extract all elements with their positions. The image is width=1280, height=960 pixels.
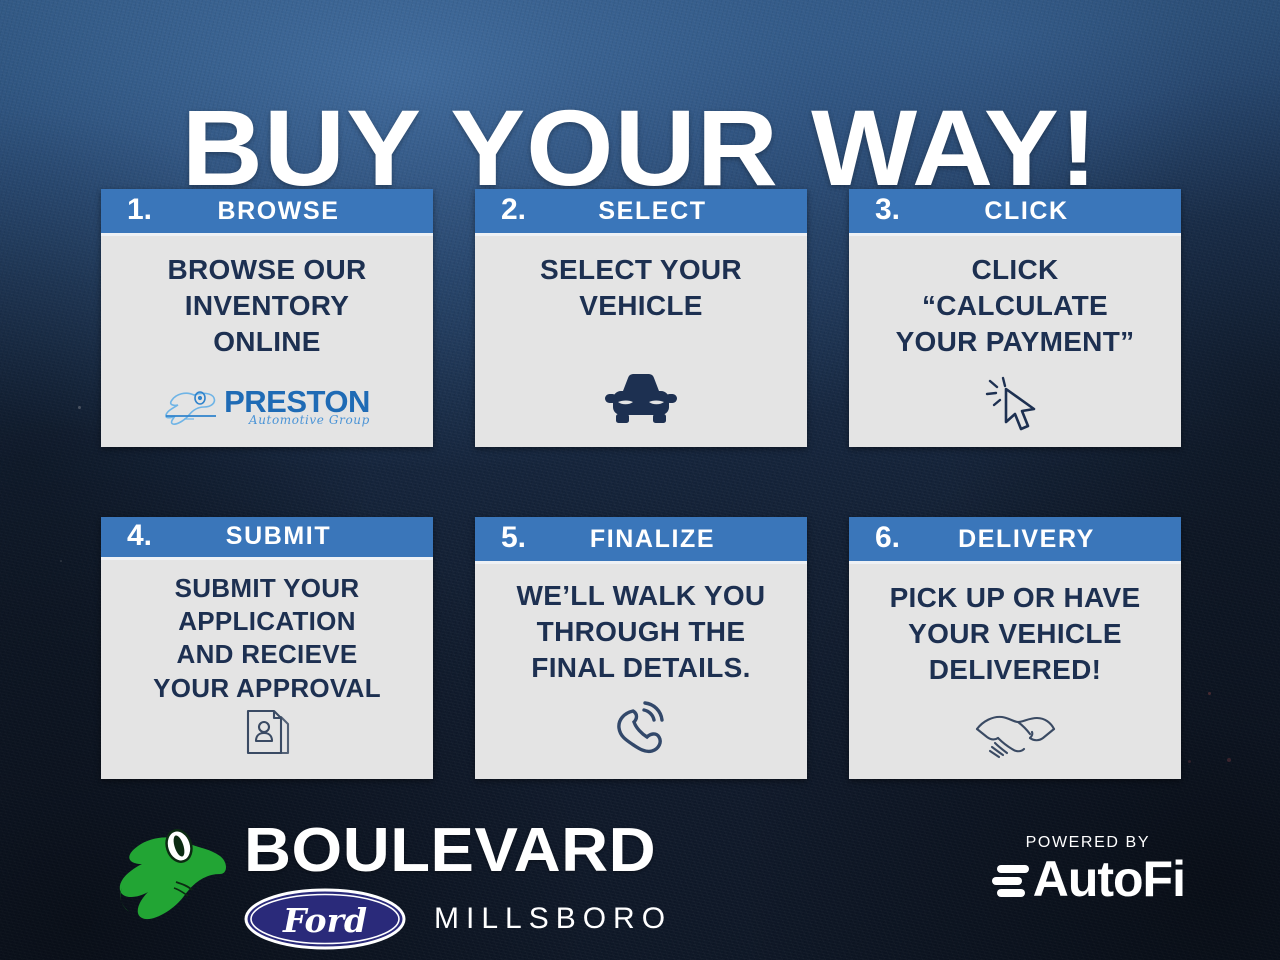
steps-grid: 1. BROWSE BROWSE OUR INVENTORY ONLINE <box>101 189 1186 779</box>
step-card-delivery[interactable]: 6. DELIVERY PICK UP OR HAVE YOUR VEHICLE… <box>849 517 1181 779</box>
phone-ringing-icon <box>487 701 795 771</box>
dealer-brand-lockup: BOULEVARD Ford MILLSBORO <box>116 820 672 950</box>
dealer-name: BOULEVARD <box>244 820 693 882</box>
autofi-lockup: POWERED BY AutoFi <box>991 834 1185 904</box>
step-card-body: WE’LL WALK YOU THROUGH THE FINAL DETAILS… <box>475 564 807 779</box>
dealer-location: MILLSBORO <box>434 902 672 936</box>
step-card-select[interactable]: 2. SELECT SELECT YOUR VEHICLE <box>475 189 807 447</box>
step-description: PICK UP OR HAVE YOUR VEHICLE DELIVERED! <box>890 580 1141 687</box>
boulevard-frog-logo-icon <box>116 828 228 932</box>
preston-wordmark: PRESTON <box>224 388 370 416</box>
dealer-text-block: BOULEVARD Ford MILLSBORO <box>244 820 672 950</box>
texture-speck <box>60 560 62 562</box>
ford-oval-logo-icon: Ford <box>244 888 406 950</box>
step-card-header: 1. BROWSE <box>101 189 433 236</box>
step-description: SELECT YOUR VEHICLE <box>540 252 742 324</box>
step-title: SUBMIT <box>146 524 421 549</box>
step-card-body: SELECT YOUR VEHICLE <box>475 236 807 447</box>
step-card-header: 6. DELIVERY <box>849 517 1181 564</box>
step-card-header: 3. CLICK <box>849 189 1181 236</box>
step-description: BROWSE OUR INVENTORY ONLINE <box>168 252 367 359</box>
step-card-header: 5. FINALIZE <box>475 517 807 564</box>
page-title: BUY YOUR WAY! <box>0 94 1280 202</box>
handshake-icon <box>861 707 1169 771</box>
application-documents-icon <box>113 705 421 771</box>
step-card-browse[interactable]: 1. BROWSE BROWSE OUR INVENTORY ONLINE <box>101 189 433 447</box>
step-title: BROWSE <box>146 199 421 224</box>
dealer-sub-row: Ford MILLSBORO <box>244 888 672 950</box>
step-card-body: BROWSE OUR INVENTORY ONLINE PRESTON Au <box>101 236 433 447</box>
step-card-body: CLICK “CALCULATE YOUR PAYMENT” <box>849 236 1181 447</box>
texture-speck <box>1208 692 1211 695</box>
step-description: SUBMIT YOUR APPLICATION AND RECIEVE YOUR… <box>153 572 381 705</box>
texture-speck <box>1188 760 1191 763</box>
step-card-click[interactable]: 3. CLICK CLICK “CALCULATE YOUR PAYMENT” <box>849 189 1181 447</box>
step-card-header: 2. SELECT <box>475 189 807 236</box>
footer: BOULEVARD Ford MILLSBORO POWERED BY <box>0 812 1280 952</box>
step-card-body: PICK UP OR HAVE YOUR VEHICLE DELIVERED! <box>849 564 1181 779</box>
powered-by-label: POWERED BY <box>991 834 1185 852</box>
step-description: WE’LL WALK YOU THROUGH THE FINAL DETAILS… <box>517 578 766 685</box>
preston-frog-icon <box>164 389 220 427</box>
texture-speck <box>1227 758 1231 762</box>
step-description: CLICK “CALCULATE YOUR PAYMENT” <box>896 252 1135 359</box>
autofi-bars-icon <box>991 857 1031 901</box>
ford-wordmark: Ford <box>282 901 367 940</box>
autofi-wordmark: AutoFi <box>1033 854 1185 904</box>
car-front-icon <box>487 369 795 439</box>
texture-speck <box>78 406 81 409</box>
step-title: DELIVERY <box>894 527 1169 552</box>
step-card-body: SUBMIT YOUR APPLICATION AND RECIEVE YOUR… <box>101 560 433 779</box>
preston-automotive-group-logo: PRESTON Automotive Group <box>113 388 421 439</box>
step-card-finalize[interactable]: 5. FINALIZE WE’LL WALK YOU THROUGH THE F… <box>475 517 807 779</box>
mouse-cursor-click-icon <box>861 375 1169 439</box>
step-card-submit[interactable]: 4. SUBMIT SUBMIT YOUR APPLICATION AND RE… <box>101 517 433 779</box>
step-title: SELECT <box>520 199 795 224</box>
step-title: FINALIZE <box>520 527 795 552</box>
poster-canvas: BUY YOUR WAY! 1. BROWSE BROWSE OUR INVEN… <box>0 0 1280 960</box>
step-card-header: 4. SUBMIT <box>101 517 433 560</box>
step-title: CLICK <box>894 199 1169 224</box>
